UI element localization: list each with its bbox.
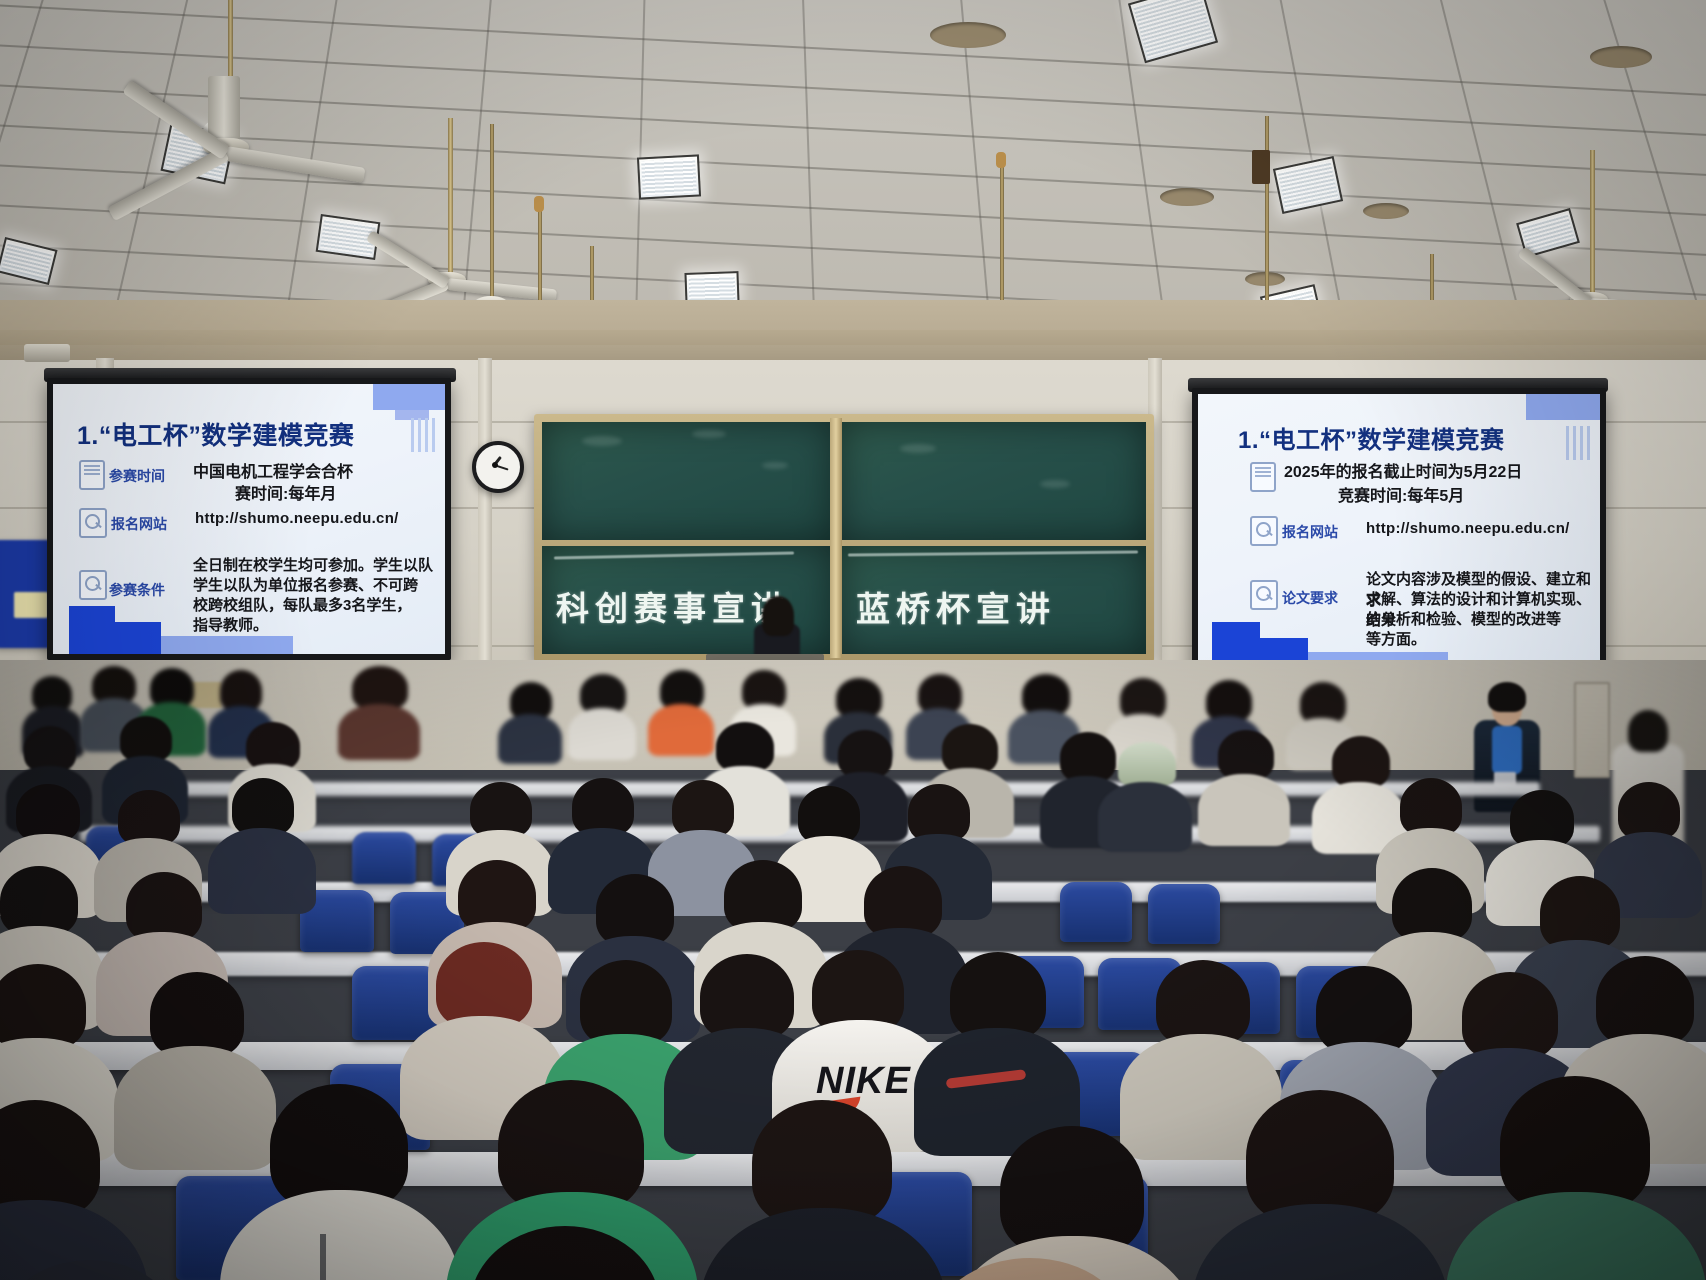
soffit-beam	[0, 330, 1706, 360]
left-slide-text-1b: 赛时间:每年月	[235, 480, 336, 504]
audience-hair	[1218, 730, 1274, 780]
slide-deco-lines	[1566, 426, 1592, 460]
ceiling-light	[1273, 156, 1343, 214]
audience-shoulders	[114, 1046, 276, 1170]
nike-logo-text: NIKE	[816, 1060, 911, 1103]
slide-deco	[1526, 394, 1600, 420]
blackboard-right-text: 蓝桥杯宣讲	[856, 582, 1056, 631]
left-slide-text-3c: 校跨校组队，每队最多3名学生，	[193, 594, 411, 615]
ceiling-light	[0, 237, 58, 285]
slide-deco	[1212, 622, 1260, 644]
blackboard-panel-upper-left	[542, 422, 832, 540]
audience-hair	[1060, 732, 1116, 782]
speaker-hair	[762, 596, 794, 636]
ceiling-light	[1128, 0, 1218, 63]
slide-deco-lines	[411, 418, 437, 452]
right-slide-text-1b: 竞赛时间:每年5月	[1338, 482, 1464, 506]
right-slide: 1.“电工杯”数学建模竞赛 2025年的报名截止时间为5月22日 竞赛时间:每年…	[1198, 394, 1600, 670]
ceiling-light	[637, 154, 701, 199]
blackboard-mullion	[830, 418, 842, 658]
clipboard-icon	[1250, 462, 1276, 492]
blackboard-panel-lower-right: 蓝桥杯宣讲	[840, 546, 1146, 654]
left-slide-text-2: http://shumo.neepu.edu.cn/	[195, 510, 399, 527]
audience-hair	[1316, 966, 1412, 1054]
left-slide-label-1: 参赛时间	[109, 466, 165, 486]
audience-shoulders	[208, 828, 316, 914]
hanging-bulb-icon	[534, 196, 544, 212]
fan-rod	[228, 0, 233, 78]
magnifier-icon	[79, 570, 107, 600]
audience-hair	[1540, 876, 1620, 950]
audience-hair	[246, 722, 300, 770]
audience-shoulders	[1198, 774, 1290, 846]
wall-clock	[472, 441, 524, 493]
speaker-box	[1252, 150, 1270, 184]
left-slide-text-1a: 中国电机工程学会合杯	[193, 458, 353, 482]
projector	[24, 344, 70, 362]
audience-shoulders	[498, 714, 562, 764]
right-slide-text-3d: 等方面。	[1366, 628, 1426, 649]
audience-shoulders	[648, 704, 714, 756]
hanging-wire	[490, 124, 494, 300]
audience-hair	[1596, 956, 1694, 1046]
ceiling-vent	[1363, 203, 1409, 219]
audience-hair	[1462, 972, 1558, 1060]
standing-person-shirt	[1492, 726, 1522, 774]
left-projection-screen-frame: 1.“电工杯”数学建模竞赛 参赛时间 中国电机工程学会合杯 赛时间:每年月 报名…	[47, 378, 451, 660]
blackboard-frame: 科创赛事宣讲 蓝桥杯宣讲	[534, 414, 1154, 662]
ceiling	[0, 0, 1706, 330]
hanging-wire	[1265, 116, 1269, 316]
seat[interactable]	[352, 966, 438, 1040]
right-slide-text-1a: 2025年的报名截止时间为5月22日	[1284, 458, 1522, 482]
magnifier-icon	[79, 508, 107, 538]
slide-deco	[69, 606, 115, 628]
fan-rod	[448, 118, 453, 278]
wall-pillar	[478, 358, 492, 688]
seat[interactable]	[1060, 882, 1132, 942]
magnifier-icon	[1250, 580, 1278, 610]
right-slide-text-3c: 的分析和检验、模型的改进等	[1366, 608, 1561, 629]
blackboard-left-text: 科创赛事宣讲	[556, 582, 790, 630]
fan-rod	[1590, 150, 1595, 298]
clipboard-icon	[79, 460, 105, 490]
left-slide-label-2: 报名网站	[111, 514, 167, 534]
ceiling-vent	[1590, 46, 1652, 68]
left-slide-text-3a: 全日制在校学生均可参加。学生以队	[193, 554, 433, 575]
blackboard-panel-upper-right	[840, 422, 1146, 540]
right-slide-label-3: 论文要求	[1282, 588, 1338, 608]
audience-hair	[942, 724, 998, 774]
audience-hair	[950, 952, 1046, 1040]
audience-hair	[1392, 868, 1472, 942]
left-slide-text-3d: 指导教师。	[193, 614, 268, 635]
seat[interactable]	[1148, 884, 1220, 944]
left-slide-text-3b: 学生以队为单位报名参赛、不可跨	[193, 574, 418, 595]
seat[interactable]	[352, 832, 416, 884]
audience-shoulders	[338, 704, 420, 760]
audience-hair	[716, 722, 774, 772]
audience-hair	[1332, 736, 1390, 788]
clock-center	[492, 462, 498, 468]
fan-blade	[366, 230, 450, 289]
ceiling-vent	[930, 22, 1006, 48]
audience-shoulders	[568, 708, 636, 760]
audience-seating-area: NIKE	[0, 660, 1706, 1280]
left-slide-title: 1.“电工杯”数学建模竞赛	[77, 416, 354, 452]
audience-shoulders	[1098, 782, 1192, 852]
side-door	[1574, 682, 1610, 778]
standing-person-hair	[1488, 682, 1526, 712]
right-slide-text-2: http://shumo.neepu.edu.cn/	[1366, 520, 1570, 537]
slide-deco	[373, 384, 445, 410]
lecture-hall-photo: 1.“电工杯”数学建模竞赛 参赛时间 中国电机工程学会合杯 赛时间:每年月 报名…	[0, 0, 1706, 1280]
audience-shoulders	[1446, 1192, 1706, 1280]
right-slide-label-2: 报名网站	[1282, 522, 1338, 542]
beanie-hat	[1118, 742, 1176, 786]
magnifier-icon	[1250, 516, 1278, 546]
audience-shoulders	[1192, 1204, 1448, 1280]
fan-motor	[208, 76, 240, 144]
right-projection-screen-frame: 1.“电工杯”数学建模竞赛 2025年的报名截止时间为5月22日 竞赛时间:每年…	[1192, 388, 1606, 676]
right-slide-title: 1.“电工杯”数学建模竞赛	[1238, 420, 1505, 455]
hanging-bulb-icon	[996, 152, 1006, 168]
left-slide: 1.“电工杯”数学建模竞赛 参赛时间 中国电机工程学会合杯 赛时间:每年月 报名…	[53, 384, 445, 654]
slide-deco	[161, 636, 293, 654]
left-slide-label-3: 参赛条件	[109, 580, 165, 600]
poster-note	[14, 592, 48, 618]
audience-hair	[838, 730, 892, 778]
standing-person-2-hair	[1628, 710, 1668, 752]
jacket-seam	[320, 1234, 326, 1280]
ceiling-vent	[1160, 188, 1214, 206]
